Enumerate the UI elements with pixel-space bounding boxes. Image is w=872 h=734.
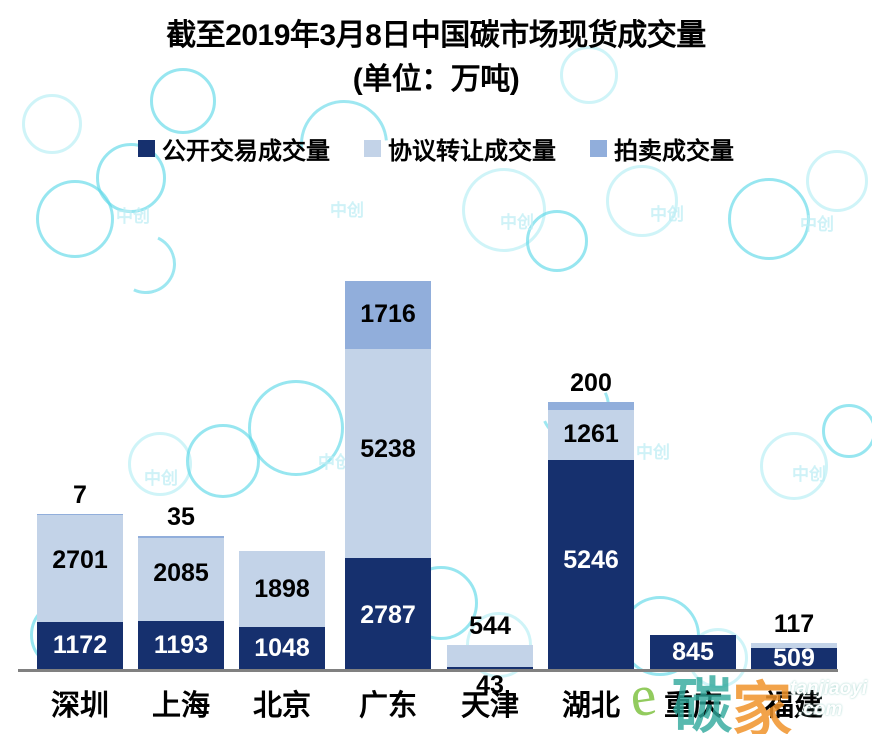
bar-segment-auction[interactable]: 200 bbox=[548, 402, 634, 410]
bar-segment-label: 1048 bbox=[239, 636, 325, 661]
bar-segment-agreement-transfer[interactable]: 2085 bbox=[138, 538, 224, 621]
bar-group-fujian[interactable]: 117 509 bbox=[751, 643, 837, 669]
bar-segment-agreement-transfer[interactable]: 1898 bbox=[239, 551, 325, 627]
category-label-guangdong: 广东 bbox=[331, 682, 445, 724]
bar-segment-label: 1716 bbox=[345, 302, 431, 327]
legend-swatch-icon bbox=[364, 140, 381, 157]
category-label-chongqing: 重庆 bbox=[636, 682, 750, 724]
chart-legend: 公开交易成交量 协议转让成交量 拍卖成交量 bbox=[0, 131, 872, 166]
category-label-shanghai: 上海 bbox=[124, 682, 238, 724]
bar-segment-label: 7 bbox=[37, 483, 123, 508]
chart-title: 截至2019年3月8日中国碳市场现货成交量 bbox=[0, 14, 872, 58]
bar-segment-agreement-transfer[interactable]: 1261 bbox=[548, 410, 634, 460]
legend-swatch-icon bbox=[590, 140, 607, 157]
bar-group-chongqing[interactable]: 845 bbox=[650, 635, 736, 669]
bar-segment-agreement-transfer[interactable]: 2701 bbox=[37, 515, 123, 622]
bar-segment-label: 5246 bbox=[548, 548, 634, 573]
bar-segment-public-trading[interactable]: 509 bbox=[751, 648, 837, 669]
bar-segment-public-trading[interactable]: 845 bbox=[650, 635, 736, 669]
legend-label-public-trading: 公开交易成交量 bbox=[162, 131, 330, 166]
category-label-beijing: 北京 bbox=[225, 682, 339, 724]
chart-title-block: 截至2019年3月8日中国碳市场现货成交量 (单位：万吨) bbox=[0, 14, 872, 102]
bar-segment-label: 509 bbox=[751, 646, 837, 671]
category-label-shenzhen: 深圳 bbox=[23, 682, 137, 724]
chart-container: 中创 中创 中创 中创 中创 中创 中创 中创 中创 截至2019年3月8日中国… bbox=[0, 0, 872, 734]
bar-segment-label: 1172 bbox=[37, 633, 123, 658]
x-axis-line bbox=[18, 669, 838, 672]
bar-group-guangdong[interactable]: 1716 5238 2787 bbox=[345, 281, 431, 669]
legend-item-public-trading[interactable]: 公开交易成交量 bbox=[138, 131, 330, 166]
bar-segment-public-trading[interactable]: 1193 bbox=[138, 621, 224, 669]
legend-item-agreement-transfer[interactable]: 协议转让成交量 bbox=[364, 131, 556, 166]
bar-group-shenzhen[interactable]: 7 2701 1172 bbox=[37, 514, 123, 669]
bar-group-beijing[interactable]: 1898 1048 bbox=[239, 551, 325, 669]
bar-segment-auction[interactable]: 1716 bbox=[345, 281, 431, 349]
bar-segment-label: 200 bbox=[548, 371, 634, 396]
bar-segment-public-trading[interactable]: 1172 bbox=[37, 622, 123, 669]
bar-segment-label: 1261 bbox=[548, 422, 634, 447]
bar-segment-label: 544 bbox=[447, 614, 533, 639]
bar-segment-agreement-transfer[interactable]: 544 bbox=[447, 645, 533, 667]
bar-group-hubei[interactable]: 200 1261 5246 bbox=[548, 402, 634, 669]
bar-segment-public-trading[interactable]: 43 bbox=[447, 667, 533, 669]
bar-segment-label: 5238 bbox=[345, 437, 431, 462]
bar-group-shanghai[interactable]: 35 2085 1193 bbox=[138, 536, 224, 669]
bar-segment-label: 1898 bbox=[239, 577, 325, 602]
bar-segment-public-trading[interactable]: 2787 bbox=[345, 558, 431, 669]
legend-label-agreement-transfer: 协议转让成交量 bbox=[388, 131, 556, 166]
bar-segment-public-trading[interactable]: 1048 bbox=[239, 627, 325, 669]
bar-segment-public-trading[interactable]: 5246 bbox=[548, 460, 634, 669]
bar-segment-label: 35 bbox=[138, 505, 224, 530]
legend-swatch-icon bbox=[138, 140, 155, 157]
bar-segment-agreement-transfer[interactable]: 5238 bbox=[345, 349, 431, 558]
bar-segment-label: 2085 bbox=[138, 561, 224, 586]
legend-item-auction[interactable]: 拍卖成交量 bbox=[590, 131, 734, 166]
chart-subtitle: (单位：万吨) bbox=[0, 58, 872, 102]
category-label-fujian: 福建 bbox=[737, 682, 851, 724]
bar-segment-label: 2701 bbox=[37, 548, 123, 573]
bar-segment-label: 845 bbox=[650, 640, 736, 665]
category-label-tianjin: 天津 bbox=[433, 682, 547, 724]
plot-area: 7 2701 1172 深圳 35 2085 1193 上海 bbox=[0, 0, 872, 734]
bar-segment-label: 117 bbox=[751, 612, 837, 637]
bar-segment-label: 2787 bbox=[345, 603, 431, 628]
bar-segment-label: 1193 bbox=[138, 633, 224, 658]
category-label-hubei: 湖北 bbox=[534, 682, 648, 724]
bar-group-tianjin[interactable]: 544 43 bbox=[447, 645, 533, 669]
legend-label-auction: 拍卖成交量 bbox=[614, 131, 734, 166]
